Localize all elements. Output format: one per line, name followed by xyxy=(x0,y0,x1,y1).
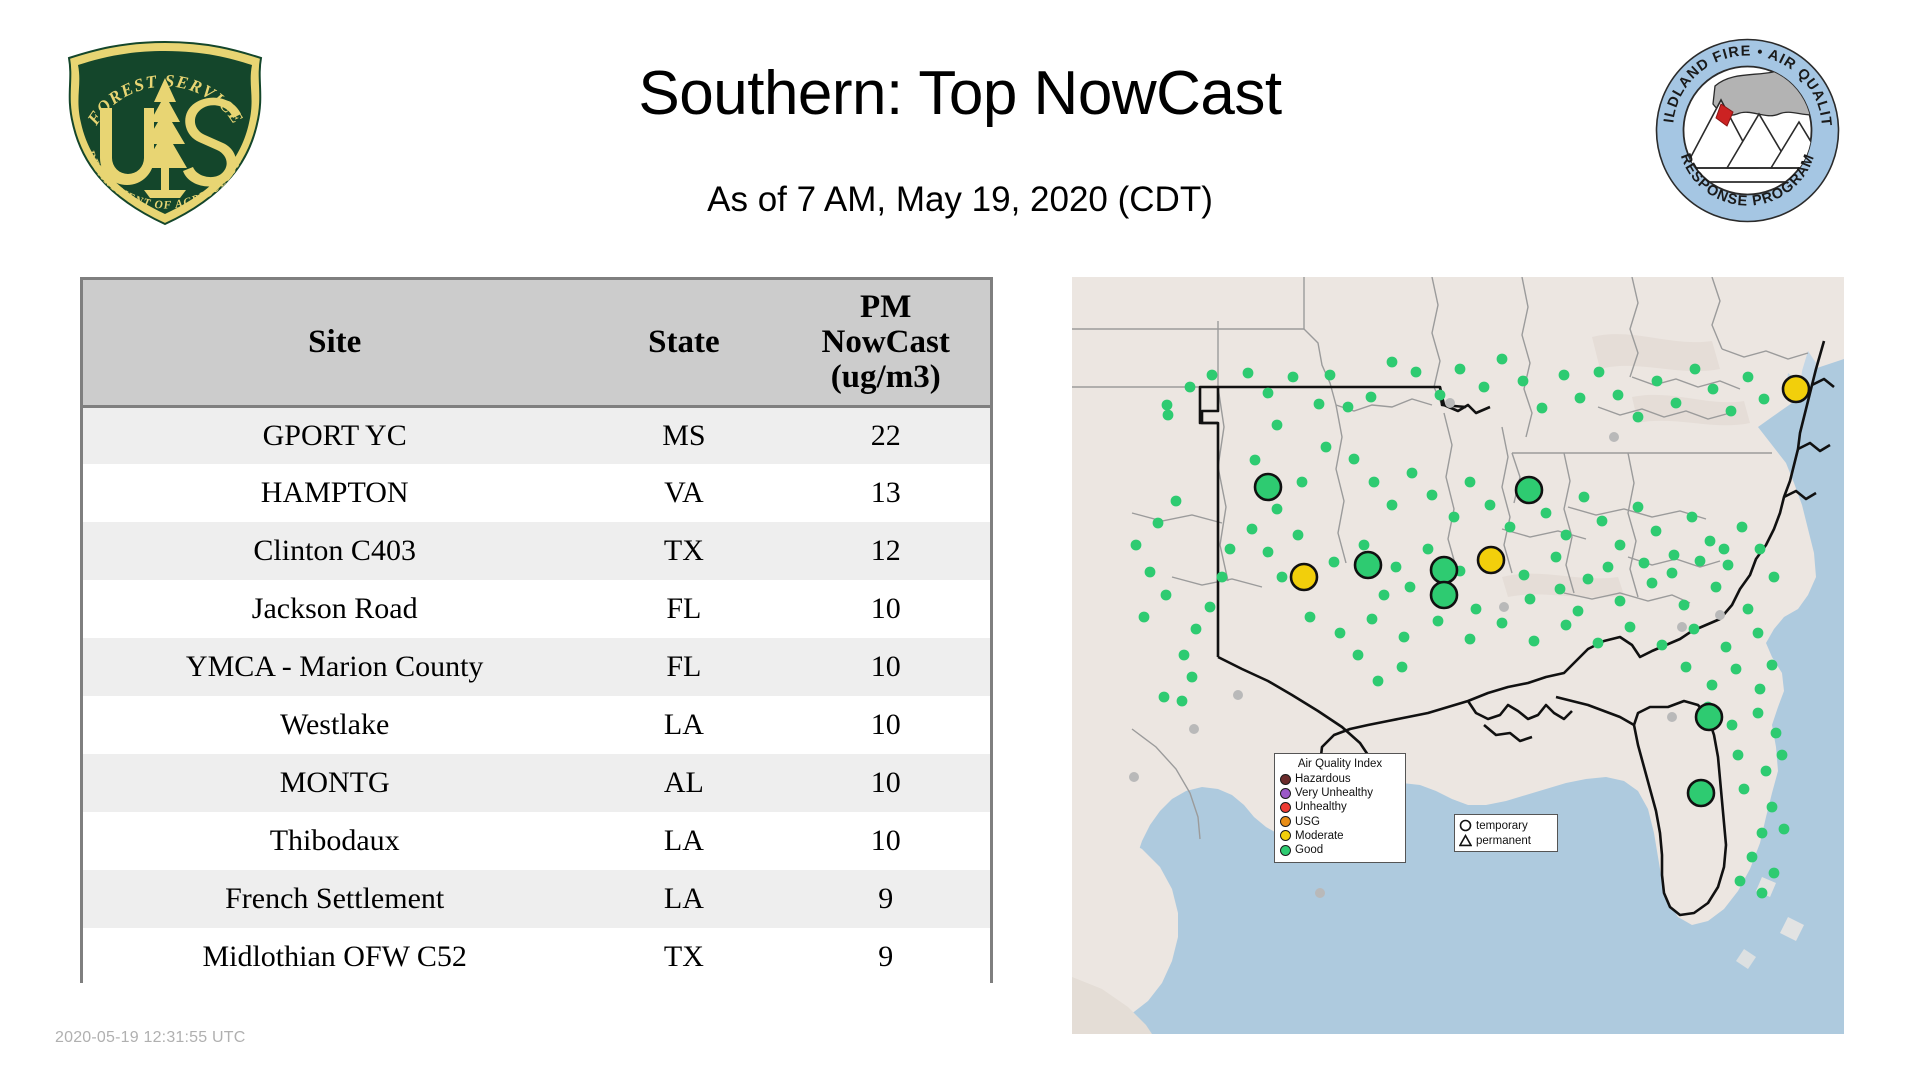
table-header-row: Site State PM NowCast (ug/m3) xyxy=(83,280,990,406)
monitor-dot[interactable] xyxy=(1433,616,1444,627)
monitor-dot[interactable] xyxy=(1759,394,1770,405)
monitor-dot[interactable] xyxy=(1233,690,1243,700)
monitor-dot[interactable] xyxy=(1359,540,1370,551)
table-row: Midlothian OFW C52 TX 9 xyxy=(83,928,990,986)
monitor-dot[interactable] xyxy=(1407,468,1418,479)
cell-pm: 10 xyxy=(781,696,990,754)
legend-monitor-type: temporary permanent xyxy=(1454,814,1558,852)
cell-state: TX xyxy=(586,928,781,986)
monitor-dot[interactable] xyxy=(1687,512,1698,523)
monitor-dot[interactable] xyxy=(1541,508,1552,519)
cell-pm: 10 xyxy=(781,812,990,870)
monitor-dot[interactable] xyxy=(1297,477,1308,488)
monitor-dot[interactable] xyxy=(1737,522,1748,533)
monitor-dot[interactable] xyxy=(1499,602,1509,612)
monitor-dot[interactable] xyxy=(1769,868,1780,879)
monitor-dot[interactable] xyxy=(1367,614,1378,625)
cell-site: MONTG xyxy=(83,754,586,812)
cell-site: GPORT YC xyxy=(83,406,586,464)
monitor-dot[interactable] xyxy=(1723,560,1734,571)
monitor-dot[interactable] xyxy=(1695,556,1706,567)
monitor-dot[interactable] xyxy=(1479,382,1490,393)
cell-pm: 22 xyxy=(781,406,990,464)
table-row: French Settlement LA 9 xyxy=(83,870,990,928)
monitor-dot[interactable] xyxy=(1387,357,1398,368)
legend-label-hazardous: Hazardous xyxy=(1295,773,1351,785)
monitor-dot[interactable] xyxy=(1161,590,1172,601)
monitor-dot[interactable] xyxy=(1349,454,1360,465)
table-row: Jackson Road FL 10 xyxy=(83,580,990,638)
legend-item-moderate: Moderate xyxy=(1280,829,1400,843)
monitor-dot[interactable] xyxy=(1449,512,1460,523)
legend-title: Air Quality Index xyxy=(1280,758,1400,770)
monitor-dot[interactable] xyxy=(1399,632,1410,643)
monitor-dot[interactable] xyxy=(1205,602,1216,613)
monitor-dot[interactable] xyxy=(1573,606,1584,617)
monitor-dot[interactable] xyxy=(1187,672,1198,683)
monitor-dot[interactable] xyxy=(1177,696,1188,707)
cell-state: AL xyxy=(586,754,781,812)
legend-label-permanent: permanent xyxy=(1476,835,1531,847)
monitor-dot[interactable] xyxy=(1551,552,1562,563)
monitor-dot[interactable] xyxy=(1179,650,1190,661)
monitor-dot[interactable] xyxy=(1689,624,1700,635)
monitor-dot[interactable] xyxy=(1721,642,1732,653)
southern-region-air-quality-map[interactable]: Midlothian OFW C52MONTGWestlakeClinton C… xyxy=(1072,277,1844,1034)
legend-label-temporary: temporary xyxy=(1476,820,1528,832)
monitor-dot[interactable] xyxy=(1707,680,1718,691)
monitor-dot[interactable] xyxy=(1427,490,1438,501)
page-title: Southern: Top NowCast xyxy=(360,58,1560,129)
wildland-fire-air-quality-response-program-seal: WILDLAND FIRE • AIR QUALITY RESPONSE PRO… xyxy=(1655,38,1840,223)
monitor-dot[interactable] xyxy=(1263,547,1274,558)
monitor-dot[interactable] xyxy=(1435,390,1446,401)
cell-state: LA xyxy=(586,812,781,870)
cell-site: YMCA - Marion County xyxy=(83,638,586,696)
table-row: Clinton C403 TX 12 xyxy=(83,522,990,580)
monitor-dot[interactable] xyxy=(1667,712,1677,722)
highlighted-monitor-dot[interactable]: Midlothian OFW C52 xyxy=(1255,474,1281,500)
monitor-dot[interactable] xyxy=(1272,420,1283,431)
monitor-dot[interactable] xyxy=(1153,518,1164,529)
cell-state: LA xyxy=(586,696,781,754)
monitor-dot[interactable] xyxy=(1559,370,1570,381)
table-row: Thibodaux LA 10 xyxy=(83,812,990,870)
cell-pm: 10 xyxy=(781,754,990,812)
slide-canvas: FOREST SERVICE DEPARTMENT OF AGRICULTURE xyxy=(0,0,1920,1080)
cell-site: French Settlement xyxy=(83,870,586,928)
monitor-dot[interactable] xyxy=(1366,392,1377,403)
monitor-dot[interactable] xyxy=(1767,660,1778,671)
cell-state: FL xyxy=(586,580,781,638)
legend-item-usg: USG xyxy=(1280,815,1400,829)
monitor-dot[interactable] xyxy=(1652,376,1663,387)
monitor-dot[interactable] xyxy=(1505,522,1516,533)
monitor-dot[interactable] xyxy=(1329,557,1340,568)
monitor-dot[interactable] xyxy=(1757,828,1768,839)
cell-site: Midlothian OFW C52 xyxy=(83,928,586,986)
monitor-dot[interactable] xyxy=(1669,550,1680,561)
top-nowcast-table-container: Site State PM NowCast (ug/m3) GPORT YC M… xyxy=(80,277,993,983)
monitor-dot[interactable] xyxy=(1755,684,1766,695)
monitor-dot[interactable] xyxy=(1293,530,1304,541)
highlighted-monitor-dot[interactable]: Jackson Road xyxy=(1696,704,1722,730)
monitor-dot[interactable] xyxy=(1735,876,1746,887)
legend-label-unhealthy: Unhealthy xyxy=(1295,801,1347,813)
legend-item-unhealthy: Unhealthy xyxy=(1280,800,1400,814)
monitor-dot[interactable] xyxy=(1314,399,1325,410)
monitor-dot[interactable] xyxy=(1485,500,1496,511)
monitor-dot[interactable] xyxy=(1397,662,1408,673)
monitor-dot[interactable] xyxy=(1719,544,1730,555)
monitor-dot[interactable] xyxy=(1777,750,1788,761)
monitor-dot[interactable] xyxy=(1597,516,1608,527)
monitor-dot[interactable] xyxy=(1615,596,1626,607)
monitor-dot[interactable] xyxy=(1207,370,1218,381)
legend-item-very-unhealthy: Very Unhealthy xyxy=(1280,786,1400,800)
column-header-state: State xyxy=(586,280,781,406)
monitor-dot[interactable] xyxy=(1335,628,1346,639)
monitor-dot[interactable] xyxy=(1761,766,1772,777)
monitor-dot[interactable] xyxy=(1757,888,1768,899)
monitor-dot[interactable] xyxy=(1379,590,1390,601)
highlighted-monitor-dot[interactable]: HAMPTON xyxy=(1783,376,1809,402)
monitor-dot[interactable] xyxy=(1445,398,1455,408)
monitor-dot[interactable] xyxy=(1726,406,1737,417)
aqi-swatch-usg xyxy=(1280,816,1291,827)
monitor-dot[interactable] xyxy=(1681,662,1692,673)
monitor-dot[interactable] xyxy=(1185,382,1196,393)
cell-pm: 13 xyxy=(781,464,990,522)
monitor-dot[interactable] xyxy=(1518,376,1529,387)
monitor-dot[interactable] xyxy=(1277,572,1288,583)
column-header-pm-nowcast: PM NowCast (ug/m3) xyxy=(781,280,990,406)
monitor-dot[interactable] xyxy=(1583,574,1594,585)
monitor-dot[interactable] xyxy=(1519,570,1530,581)
highlighted-monitor-dot[interactable]: French Settlement xyxy=(1431,582,1457,608)
highlighted-monitor-dot[interactable]: YMCA - Marion County xyxy=(1688,780,1714,806)
cell-state: LA xyxy=(586,870,781,928)
monitor-dot[interactable] xyxy=(1131,540,1142,551)
monitor-dot[interactable] xyxy=(1579,492,1590,503)
monitor-dot[interactable] xyxy=(1171,496,1182,507)
monitor-dot[interactable] xyxy=(1771,728,1782,739)
us-forest-service-shield-logo: FOREST SERVICE DEPARTMENT OF AGRICULTURE xyxy=(58,38,273,228)
aqi-swatch-moderate xyxy=(1280,830,1291,841)
monitor-dot[interactable] xyxy=(1465,634,1476,645)
cell-site: Westlake xyxy=(83,696,586,754)
monitor-dot[interactable] xyxy=(1593,638,1604,649)
monitor-dot[interactable] xyxy=(1639,558,1650,569)
highlighted-monitor-dot[interactable]: Westlake xyxy=(1355,552,1381,578)
table-row: GPORT YC MS 22 xyxy=(83,406,990,464)
table-row: YMCA - Marion County FL 10 xyxy=(83,638,990,696)
monitor-dot[interactable] xyxy=(1755,544,1766,555)
legend-label-good: Good xyxy=(1295,844,1323,856)
monitor-dot[interactable] xyxy=(1667,568,1678,579)
monitor-dot[interactable] xyxy=(1391,562,1402,573)
monitor-dot[interactable] xyxy=(1711,582,1722,593)
highlighted-monitor-dot[interactable]: Thibodaux xyxy=(1431,557,1457,583)
monitor-dot[interactable] xyxy=(1387,500,1398,511)
monitor-dot[interactable] xyxy=(1537,403,1548,414)
monitor-dot[interactable] xyxy=(1753,628,1764,639)
monitor-dot[interactable] xyxy=(1405,582,1416,593)
cell-state: TX xyxy=(586,522,781,580)
monitor-dot[interactable] xyxy=(1529,636,1540,647)
monitor-dot[interactable] xyxy=(1615,540,1626,551)
monitor-dot[interactable] xyxy=(1263,388,1274,399)
monitor-dot[interactable] xyxy=(1625,622,1636,633)
monitor-dot[interactable] xyxy=(1555,584,1566,595)
legend-label-moderate: Moderate xyxy=(1295,830,1344,842)
monitor-dot[interactable] xyxy=(1288,372,1299,383)
cell-pm: 9 xyxy=(781,870,990,928)
monitor-dot[interactable] xyxy=(1731,664,1742,675)
monitor-dot[interactable] xyxy=(1677,622,1687,632)
monitor-dot[interactable] xyxy=(1575,393,1586,404)
monitor-dot[interactable] xyxy=(1243,368,1254,379)
monitor-dot[interactable] xyxy=(1129,772,1139,782)
cell-site: Clinton C403 xyxy=(83,522,586,580)
monitor-dot[interactable] xyxy=(1633,412,1644,423)
monitor-dot[interactable] xyxy=(1465,477,1476,488)
monitor-dot[interactable] xyxy=(1739,784,1750,795)
monitor-dot[interactable] xyxy=(1779,824,1790,835)
cell-state: VA xyxy=(586,464,781,522)
monitor-dot[interactable] xyxy=(1411,367,1422,378)
monitor-dot[interactable] xyxy=(1191,624,1202,635)
monitor-dot[interactable] xyxy=(1250,455,1261,466)
monitor-dot[interactable] xyxy=(1321,442,1332,453)
highlighted-monitor-dot[interactable]: MONTG xyxy=(1516,477,1542,503)
table-row: Westlake LA 10 xyxy=(83,696,990,754)
monitor-dot[interactable] xyxy=(1159,692,1170,703)
aqi-swatch-good xyxy=(1280,845,1291,856)
legend-item-permanent: permanent xyxy=(1459,833,1553,848)
top-nowcast-table: Site State PM NowCast (ug/m3) GPORT YC M… xyxy=(83,280,990,986)
monitor-dot[interactable] xyxy=(1145,567,1156,578)
cell-pm: 10 xyxy=(781,638,990,696)
monitor-dot[interactable] xyxy=(1455,364,1466,375)
monitor-dot[interactable] xyxy=(1225,544,1236,555)
monitor-dot[interactable] xyxy=(1217,572,1228,583)
monitor-dot[interactable] xyxy=(1369,477,1380,488)
column-header-site: Site xyxy=(83,280,586,406)
column-header-pm-line2: NowCast xyxy=(787,325,984,360)
table-row: MONTG AL 10 xyxy=(83,754,990,812)
monitor-dot[interactable] xyxy=(1343,402,1354,413)
aqi-swatch-very-unhealthy xyxy=(1280,788,1291,799)
monitor-dot[interactable] xyxy=(1272,504,1283,515)
aqi-swatch-unhealthy xyxy=(1280,802,1291,813)
page-subtitle: As of 7 AM, May 19, 2020 (CDT) xyxy=(360,180,1560,220)
legend-item-good: Good xyxy=(1280,843,1400,857)
monitor-dot[interactable] xyxy=(1603,562,1614,573)
monitor-dot[interactable] xyxy=(1561,620,1572,631)
column-header-pm-line1: PM xyxy=(787,290,984,325)
monitor-dot[interactable] xyxy=(1609,432,1619,442)
monitor-dot[interactable] xyxy=(1497,354,1508,365)
monitor-dot[interactable] xyxy=(1743,604,1754,615)
monitor-dot[interactable] xyxy=(1651,526,1662,537)
monitor-dot[interactable] xyxy=(1353,650,1364,661)
monitor-dot[interactable] xyxy=(1679,600,1690,611)
monitor-dot[interactable] xyxy=(1561,530,1572,541)
cell-pm: 12 xyxy=(781,522,990,580)
circle-outline-icon xyxy=(1459,819,1472,832)
monitor-dot[interactable] xyxy=(1162,400,1173,411)
legend-item-temporary: temporary xyxy=(1459,818,1553,833)
aqi-swatch-hazardous xyxy=(1280,774,1291,785)
monitor-dot[interactable] xyxy=(1305,612,1316,623)
monitor-dot[interactable] xyxy=(1715,610,1725,620)
monitor-dot[interactable] xyxy=(1727,720,1738,731)
monitor-dot[interactable] xyxy=(1247,524,1258,535)
cell-site: Thibodaux xyxy=(83,812,586,870)
legend-label-very-unhealthy: Very Unhealthy xyxy=(1295,787,1373,799)
monitor-dot[interactable] xyxy=(1163,410,1174,421)
monitor-dot[interactable] xyxy=(1497,618,1508,629)
monitor-dot[interactable] xyxy=(1315,888,1325,898)
legend-item-hazardous: Hazardous xyxy=(1280,772,1400,786)
cell-pm: 10 xyxy=(781,580,990,638)
monitor-dot[interactable] xyxy=(1671,398,1682,409)
legend-air-quality-index: Air Quality Index Hazardous Very Unhealt… xyxy=(1274,753,1406,863)
table-body: GPORT YC MS 22 HAMPTON VA 13 Clinton C40… xyxy=(83,406,990,986)
monitor-dot[interactable] xyxy=(1708,384,1719,395)
monitor-dot[interactable] xyxy=(1733,750,1744,761)
cell-site: Jackson Road xyxy=(83,580,586,638)
monitor-dot[interactable] xyxy=(1594,367,1605,378)
monitor-dot[interactable] xyxy=(1753,708,1764,719)
cell-site: HAMPTON xyxy=(83,464,586,522)
column-header-pm-line3: (ug/m3) xyxy=(787,360,984,395)
monitor-dot[interactable] xyxy=(1189,724,1199,734)
monitor-dot[interactable] xyxy=(1743,372,1754,383)
highlighted-monitor-dot[interactable]: Clinton C403 xyxy=(1291,564,1317,590)
monitor-dot[interactable] xyxy=(1657,640,1668,651)
monitor-dot[interactable] xyxy=(1471,604,1482,615)
legend-label-usg: USG xyxy=(1295,816,1320,828)
monitor-dot[interactable] xyxy=(1423,544,1434,555)
monitor-dot[interactable] xyxy=(1633,502,1644,513)
monitor-dot[interactable] xyxy=(1690,364,1701,375)
monitor-dot[interactable] xyxy=(1767,802,1778,813)
cell-state: FL xyxy=(586,638,781,696)
monitor-dot[interactable] xyxy=(1325,370,1336,381)
monitor-dot[interactable] xyxy=(1705,536,1716,547)
monitor-dot[interactable] xyxy=(1139,612,1150,623)
highlighted-monitor-dot[interactable]: GPORT YC xyxy=(1478,547,1504,573)
monitor-dot[interactable] xyxy=(1647,578,1658,589)
monitor-dot[interactable] xyxy=(1525,594,1536,605)
map-graphic: Midlothian OFW C52MONTGWestlakeClinton C… xyxy=(1072,277,1844,1034)
monitor-dot[interactable] xyxy=(1747,852,1758,863)
monitor-dot[interactable] xyxy=(1769,572,1780,583)
cell-pm: 9 xyxy=(781,928,990,986)
footer-timestamp: 2020-05-19 12:31:55 UTC xyxy=(55,1029,246,1047)
table-row: HAMPTON VA 13 xyxy=(83,464,990,522)
monitor-dot[interactable] xyxy=(1613,390,1624,401)
monitor-dot[interactable] xyxy=(1373,676,1384,687)
triangle-outline-icon xyxy=(1459,834,1472,847)
cell-state: MS xyxy=(586,406,781,464)
